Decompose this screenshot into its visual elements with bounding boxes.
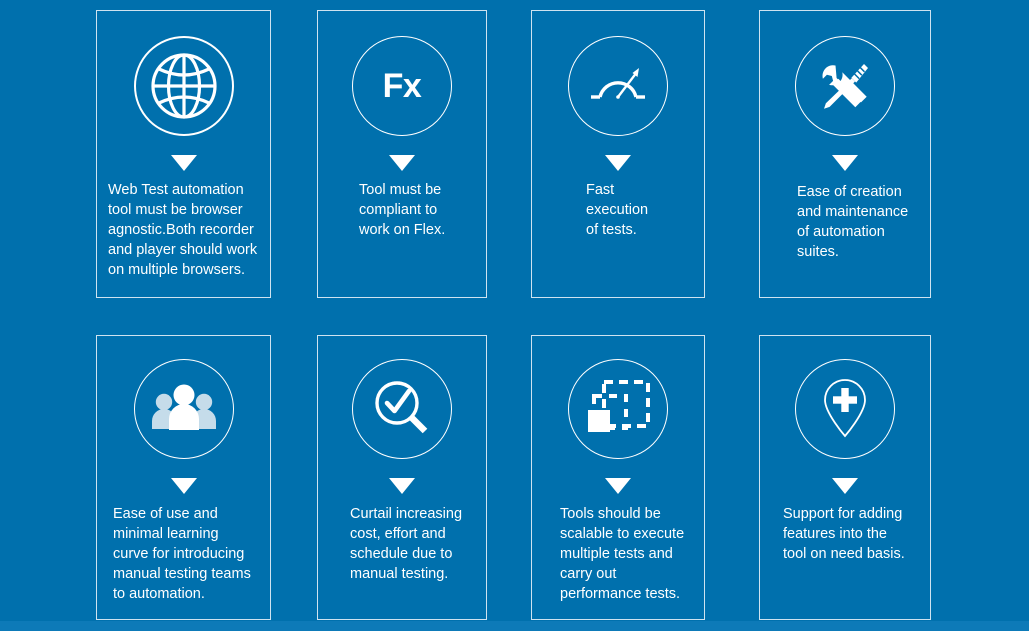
card-caption: Support for adding features into the too… bbox=[760, 504, 930, 564]
card-caption: Fast execution of tests. bbox=[532, 180, 704, 240]
card-ease-of-creation[interactable]: Ease of creation and maintenance of auto… bbox=[759, 10, 931, 298]
down-arrow-icon bbox=[389, 155, 415, 171]
down-arrow-icon bbox=[832, 478, 858, 494]
icon-wrap bbox=[760, 359, 930, 459]
down-arrow-icon bbox=[389, 478, 415, 494]
card-ease-of-use[interactable]: Ease of use and minimal learning curve f… bbox=[96, 335, 271, 620]
magnifier-check-icon bbox=[352, 359, 452, 459]
down-arrow-icon bbox=[171, 155, 197, 171]
card-grid: Web Test automation tool must be browser… bbox=[0, 0, 1029, 631]
fx-icon: Fx bbox=[352, 36, 452, 136]
down-arrow-icon bbox=[832, 155, 858, 171]
icon-wrap bbox=[532, 359, 704, 459]
tools-icon bbox=[795, 36, 895, 136]
card-caption: Curtail increasing cost, effort and sche… bbox=[318, 504, 486, 584]
card-browser-agnostic[interactable]: Web Test automation tool must be browser… bbox=[96, 10, 271, 298]
speedometer-icon bbox=[568, 36, 668, 136]
card-curtail-cost[interactable]: Curtail increasing cost, effort and sche… bbox=[317, 335, 487, 620]
down-arrow-icon bbox=[605, 478, 631, 494]
card-fast-execution[interactable]: Fast execution of tests. bbox=[531, 10, 705, 298]
icon-wrap bbox=[318, 359, 486, 459]
fx-label: Fx bbox=[383, 69, 422, 103]
card-flex-compliant[interactable]: Fx Tool must be compliant to work on Fle… bbox=[317, 10, 487, 298]
card-caption: Web Test automation tool must be browser… bbox=[97, 180, 270, 280]
map-pin-plus-icon bbox=[795, 359, 895, 459]
card-caption: Ease of use and minimal learning curve f… bbox=[97, 504, 270, 604]
icon-wrap bbox=[97, 36, 270, 136]
card-caption: Ease of creation and maintenance of auto… bbox=[760, 182, 930, 262]
card-scalable-tools[interactable]: Tools should be scalable to execute mult… bbox=[531, 335, 705, 620]
down-arrow-icon bbox=[605, 155, 631, 171]
down-arrow-icon bbox=[171, 478, 197, 494]
icon-wrap: Fx bbox=[318, 36, 486, 136]
card-extensible-support[interactable]: Support for adding features into the too… bbox=[759, 335, 931, 620]
icon-wrap bbox=[760, 36, 930, 136]
infographic-board: Web Test automation tool must be browser… bbox=[0, 0, 1029, 631]
globe-icon bbox=[134, 36, 234, 136]
icon-wrap bbox=[97, 359, 270, 459]
people-group-icon bbox=[134, 359, 234, 459]
icon-wrap bbox=[532, 36, 704, 136]
card-caption: Tool must be compliant to work on Flex. bbox=[318, 180, 486, 240]
card-caption: Tools should be scalable to execute mult… bbox=[532, 504, 704, 604]
bottom-strip bbox=[0, 621, 1029, 631]
scale-expand-icon bbox=[568, 359, 668, 459]
